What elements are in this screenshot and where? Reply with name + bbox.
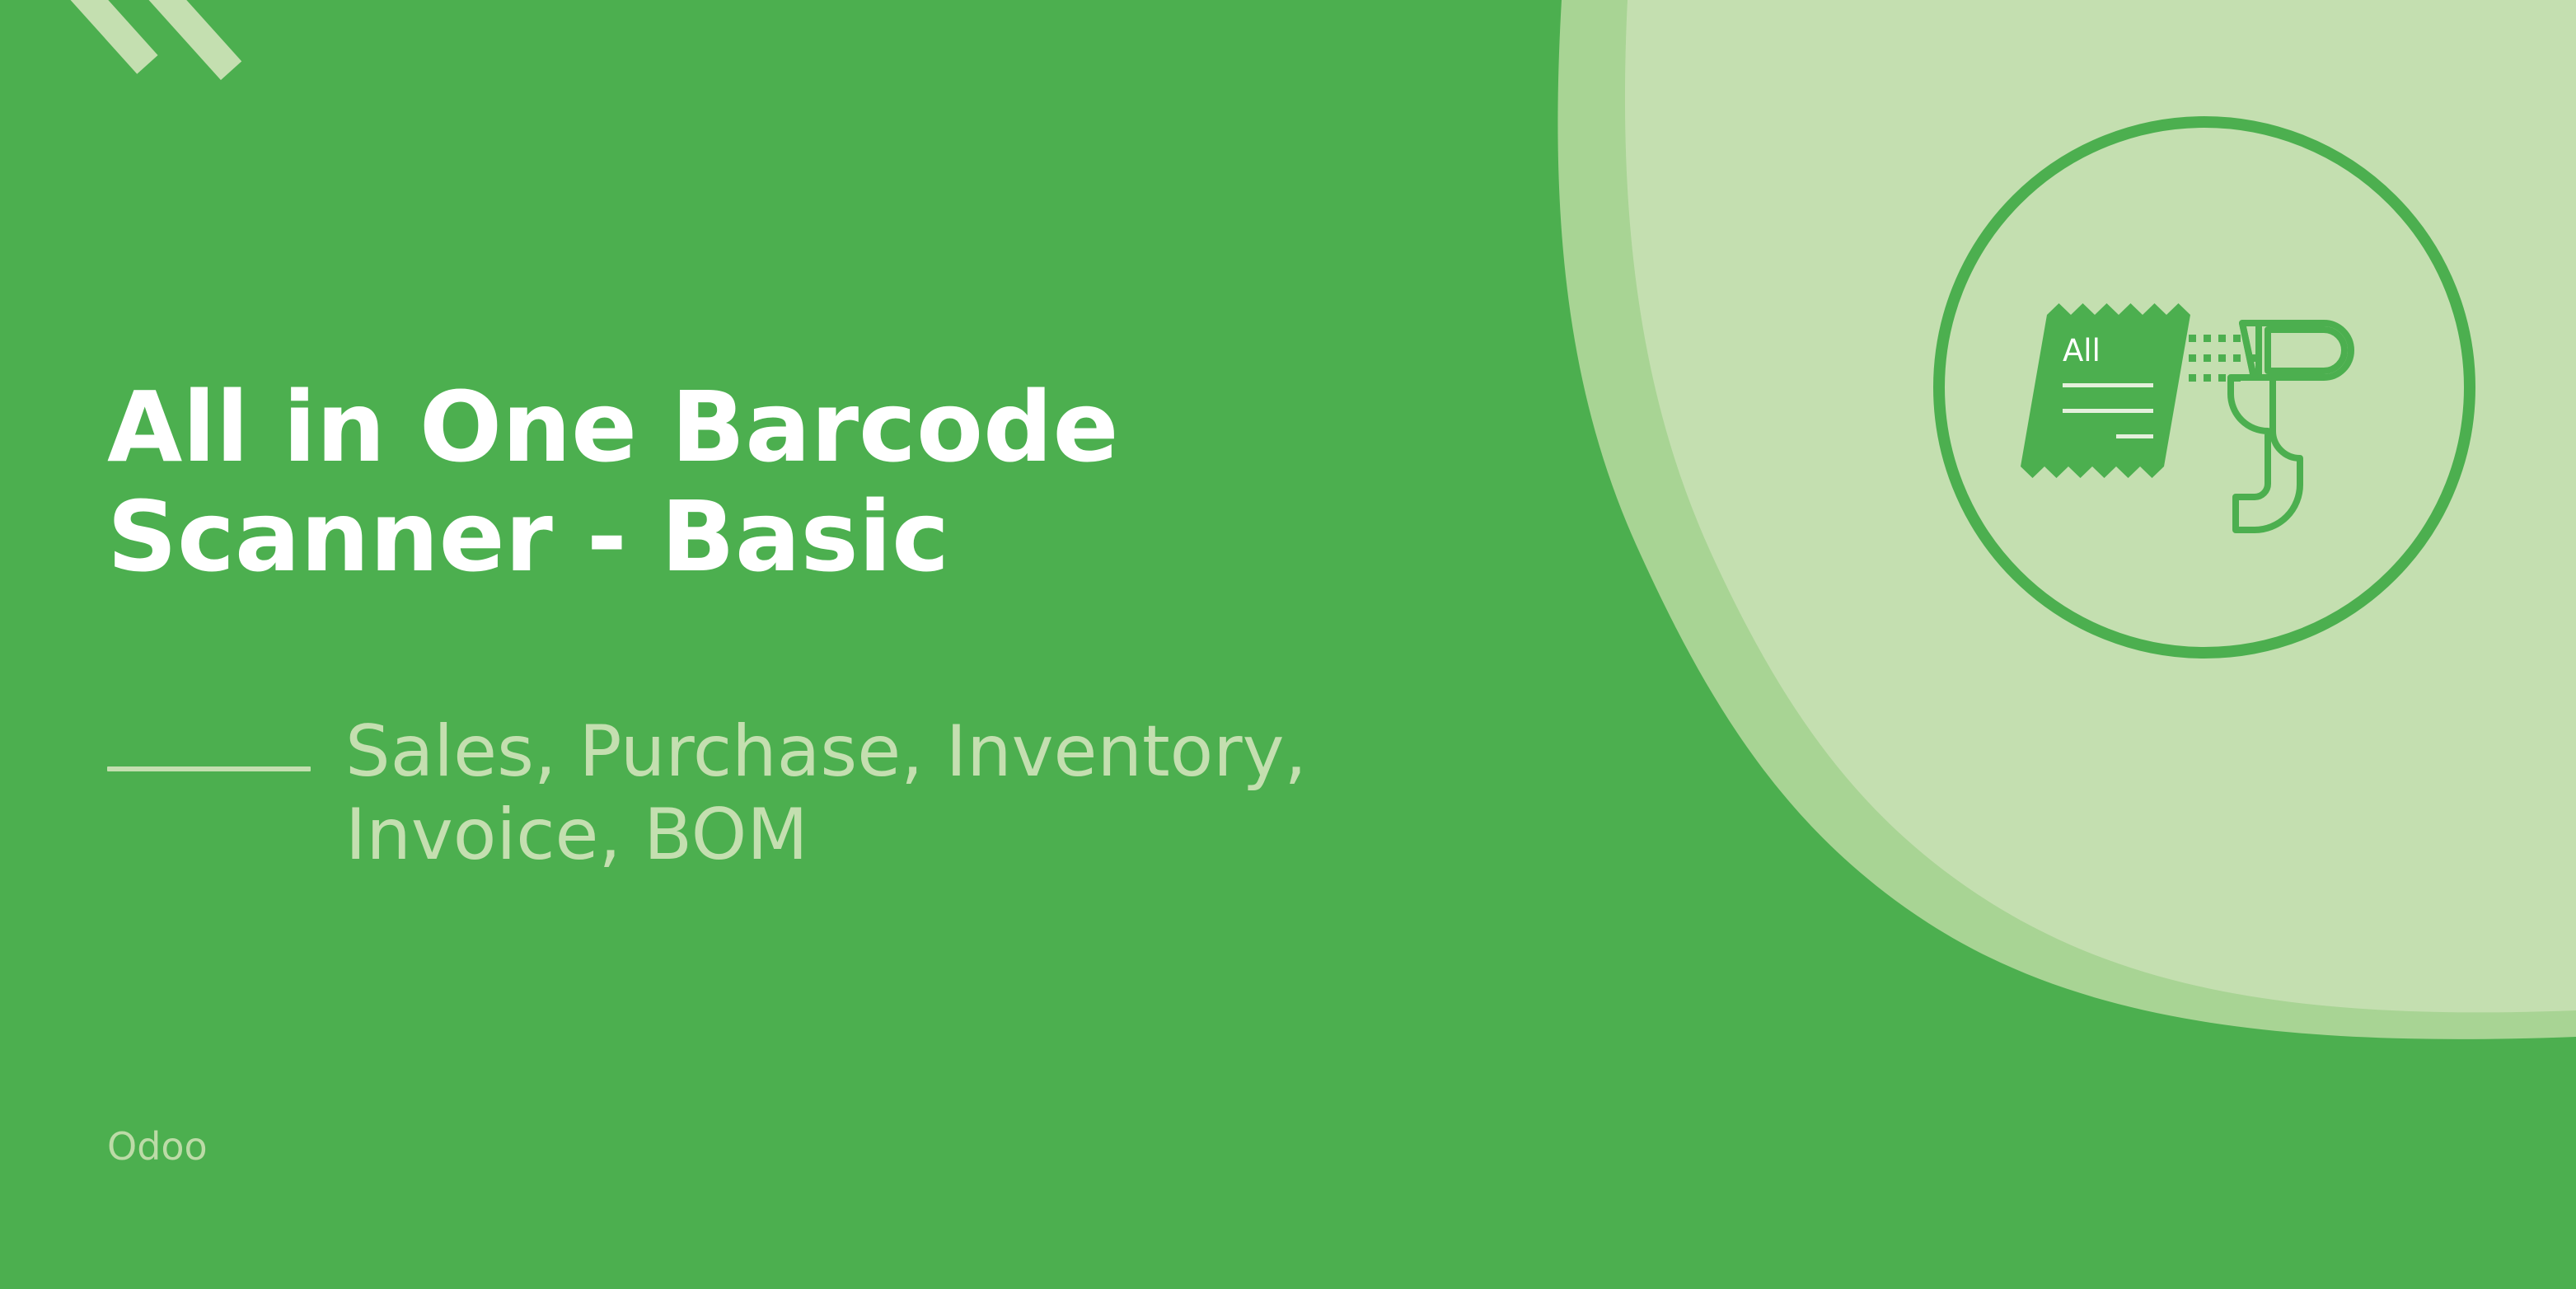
receipt-line-3 [2116,434,2153,438]
barcode-scanner-emblem: All [1931,114,2478,661]
promo-banner: All All in One [0,0,2576,1289]
subtitle-row: Sales, Purchase, Inventory, Invoice, BOM [107,710,1590,878]
brand-label: Odoo [107,1127,208,1165]
page-title: All in One Barcode Scanner - Basic [107,373,1393,593]
receipt-icon [2021,303,2190,478]
barcode-scanner-gun-icon [2231,323,2351,530]
receipt-line-1 [2063,383,2153,387]
receipt-label: All [2063,333,2101,368]
subtitle-dash-divider [107,766,311,771]
content-block: All in One Barcode Scanner - Basic Sales… [107,0,1673,1289]
page-subtitle: Sales, Purchase, Inventory, Invoice, BOM [345,710,1581,878]
emblem-circle-outline [1939,122,2470,653]
receipt-line-2 [2063,409,2153,413]
emblem-container: All [1931,114,2478,661]
